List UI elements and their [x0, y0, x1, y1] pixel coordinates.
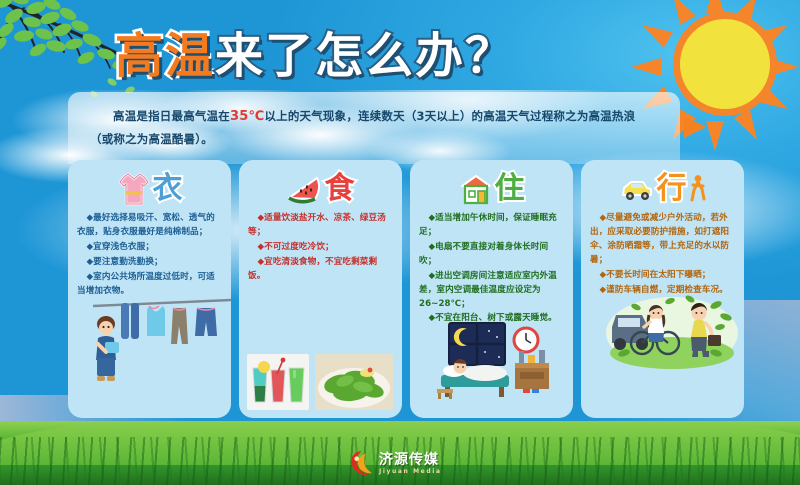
panel-living[interactable]: 住 ◆适当增加午休时间，保证睡眠充足； ◆电扇不要直接对着身体长时间吹； ◆进出…	[410, 160, 573, 418]
poster-canvas: 高温来了怎么办？ 高温是指日最高气温在35℃以上的天气现象，连续数天（3天以上）…	[0, 0, 800, 485]
logo-mark-icon	[349, 450, 374, 477]
list-item: ◆进出空调房间注意适应室内外温差，室内空调最佳温度应设定为26~28℃；	[419, 270, 564, 312]
list-item: ◆要注意勤洗勤换；	[77, 256, 222, 270]
clothesline-illustration	[85, 292, 231, 388]
intro-text-before: 高温是指日最高气温在	[113, 109, 230, 123]
cold-drinks-photo	[247, 354, 309, 410]
panel-clothing-header: 衣	[77, 166, 222, 212]
panel-travel-body: ◆尽量避免或减少户外活动，若外出，应采取必要防护措施，如打遮阳伞、涂防晒霜等，带…	[590, 212, 735, 298]
sun-ray	[665, 0, 696, 25]
food-photos	[247, 332, 395, 410]
logo-name-en: Jiyuan Media	[379, 469, 442, 475]
list-item: ◆宜穿浅色衣服；	[77, 241, 222, 255]
advice-panels: 衣 ◆最好选择易吸汗、宽松、透气的衣服，贴身衣服最好是纯棉制品； ◆宜穿浅色衣服…	[68, 160, 744, 418]
list-item: ◆最好选择易吸汗、宽松、透气的衣服，贴身衣服最好是纯棉制品；	[77, 212, 222, 240]
green-vegetable-photo	[315, 354, 393, 410]
panel-travel-header: 行	[590, 166, 735, 212]
logo-text: 济源传媒 Jiyuan Media	[379, 453, 442, 475]
page-title-highlight: 高温	[115, 28, 215, 84]
panel-clothing-body: ◆最好选择易吸汗、宽松、透气的衣服，贴身衣服最好是纯棉制品； ◆宜穿浅色衣服； …	[77, 212, 222, 299]
sun-ray	[734, 109, 765, 144]
panel-food[interactable]: 食 ◆适量饮淡盐开水、凉茶、绿豆汤等； ◆不可过度吃冷饮； ◆宜吃清淡食物，不宜…	[239, 160, 402, 418]
panel-food-body: ◆适量饮淡盐开水、凉茶、绿豆汤等； ◆不可过度吃冷饮； ◆宜吃清淡食物，不宜吃剩…	[248, 212, 393, 284]
page-title: 高温来了怎么办？	[0, 16, 630, 86]
panel-living-glyph: 住	[495, 174, 525, 204]
house-icon	[459, 173, 493, 205]
list-item: ◆适量饮淡盐开水、凉茶、绿豆汤等；	[248, 212, 393, 240]
green-travel-illustration	[598, 291, 744, 377]
panel-food-header: 食	[248, 166, 393, 212]
panel-clothing-glyph: 衣	[153, 174, 183, 204]
sun-core	[673, 12, 777, 116]
temperature-value: 35℃	[230, 109, 264, 124]
panel-living-header: 住	[419, 166, 564, 212]
panel-travel-glyph: 行	[657, 174, 687, 204]
logo-name-cn: 济源传媒	[379, 453, 442, 467]
panel-food-glyph: 食	[325, 174, 355, 204]
list-item: ◆适当增加午休时间，保证睡眠充足；	[419, 212, 564, 240]
page-title-rest: 来了怎么办？	[215, 28, 515, 84]
intro-card: 高温是指日最高气温在35℃以上的天气现象，连续数天（3天以上）的高温天气过程称之…	[68, 92, 680, 164]
panel-travel[interactable]: 行 ◆尽量避免或减少户外活动，若外出，应采取必要防护措施，如打遮阳伞、涂防晒霜等…	[581, 160, 744, 418]
list-item: ◆宜吃清淡食物，不宜吃剩菜剩饭。	[248, 256, 393, 284]
watermelon-icon	[287, 174, 323, 204]
shirt-icon	[117, 171, 151, 207]
panel-clothing[interactable]: 衣 ◆最好选择易吸汗、宽松、透气的衣服，贴身衣服最好是纯棉制品； ◆宜穿浅色衣服…	[68, 160, 231, 418]
panel-living-body: ◆适当增加午休时间，保证睡眠充足； ◆电扇不要直接对着身体长时间吹； ◆进出空调…	[419, 212, 564, 326]
list-item: ◆电扇不要直接对着身体长时间吹；	[419, 241, 564, 269]
list-item: ◆不可过度吃冷饮；	[248, 241, 393, 255]
sun-ray	[706, 121, 724, 151]
sun-ray	[631, 58, 661, 76]
bedroom-illustration	[427, 319, 573, 411]
list-item: ◆不要长时间在太阳下曝晒；	[590, 269, 735, 283]
intro-paragraph: 高温是指日最高气温在35℃以上的天气现象，连续数天（3天以上）的高温天气过程称之…	[90, 106, 658, 149]
pedestrian-icon	[689, 174, 707, 204]
sun-ray	[638, 17, 673, 48]
sun-ray	[706, 0, 724, 13]
jiyuan-media-logo-icon[interactable]: 济源传媒 Jiyuan Media	[349, 450, 442, 477]
arrow-right-icon	[684, 116, 706, 138]
car-icon	[619, 175, 655, 203]
list-item: ◆尽量避免或减少户外活动，若外出，应采取必要防护措施，如打遮阳伞、涂防晒霜等，带…	[590, 212, 735, 268]
